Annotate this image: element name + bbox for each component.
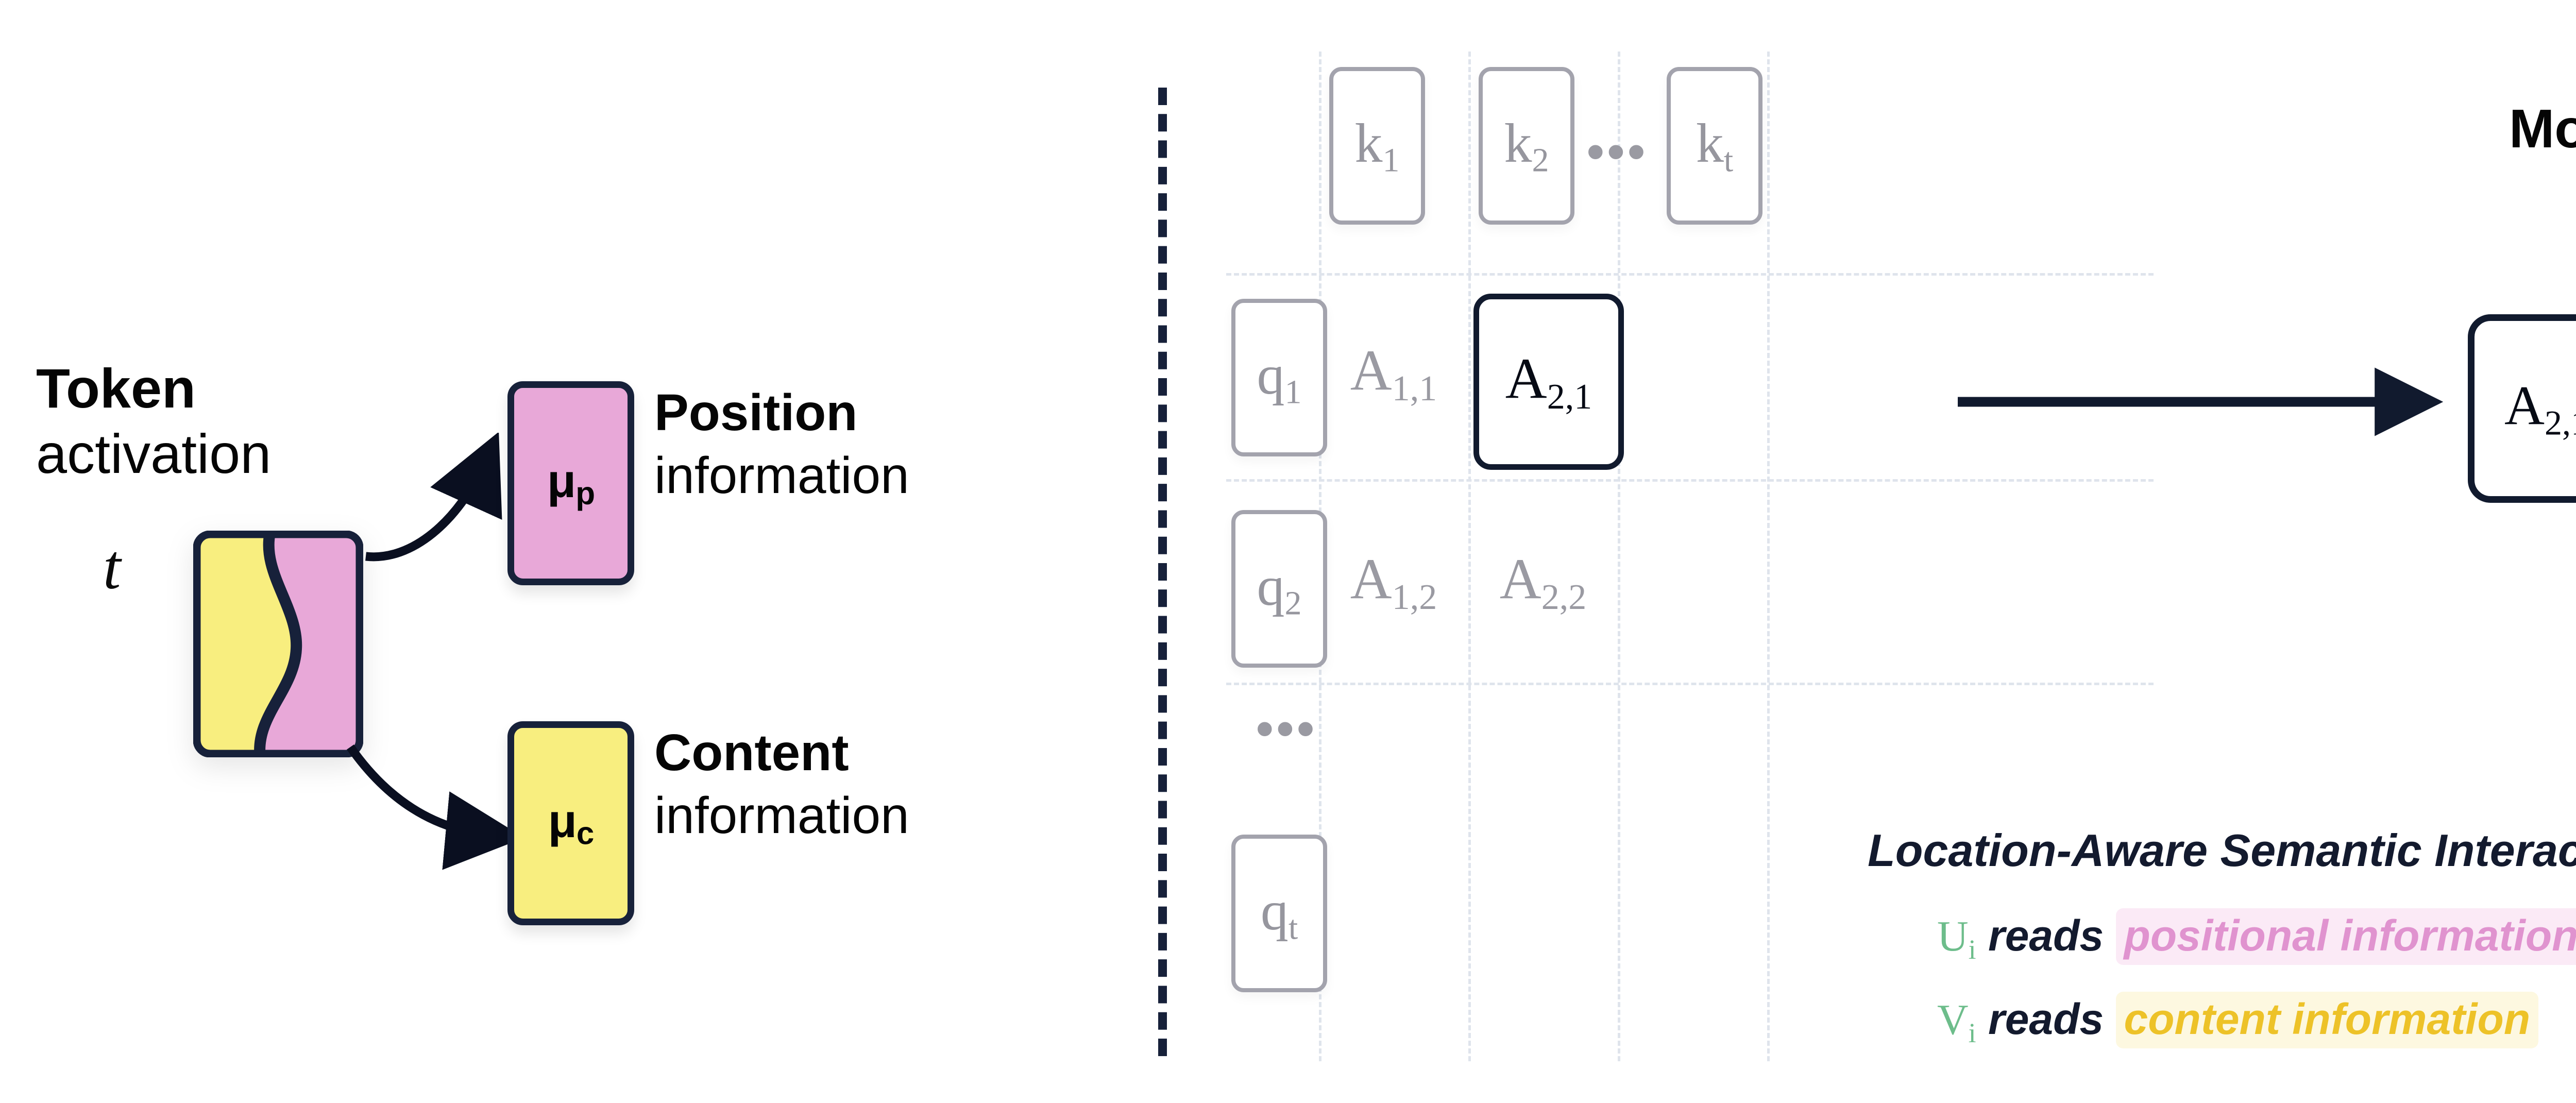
query-column-ellipsis: ••• (1256, 701, 1317, 757)
legend-verb-1: reads (1976, 911, 2116, 960)
eq-a-subscript: 2,1 (2545, 403, 2576, 442)
legend-verb-2: reads (1976, 995, 2116, 1043)
arrow-to-content (340, 737, 526, 871)
query-qt-label: q (1261, 880, 1289, 942)
page-title: Mode and Factor decomposition (2509, 98, 2576, 160)
matrix-cell-a22[interactable]: A2,2 (1468, 515, 1618, 649)
key-k2-subscript: 2 (1532, 141, 1549, 179)
key-k1-label: k (1355, 113, 1383, 174)
key-kt-subscript: t (1724, 141, 1733, 179)
query-q1-subscript: 1 (1285, 373, 1302, 411)
token-activation-tile (193, 531, 363, 757)
position-information-label: Position information (654, 381, 1036, 507)
query-token-q2[interactable]: q2 (1231, 510, 1327, 668)
legend-title-location-aware: Location-Aware Semantic Interaction (1868, 824, 2576, 877)
token-activation-label: Token activation (36, 355, 325, 487)
gridline-horizontal (1226, 479, 2154, 482)
decomposition-equation-label: A2,1 (2504, 374, 2576, 443)
cell-a11-label: A (1350, 338, 1392, 402)
gridline-horizontal (1226, 273, 2154, 276)
query-q2-label: q (1257, 556, 1285, 617)
token-label-regular: activation (36, 421, 325, 486)
content-label-regular: information (654, 784, 1036, 847)
gridline-vertical (1618, 52, 1620, 1061)
mu-c-glyph: μ (548, 795, 577, 847)
query-token-qt[interactable]: qt (1231, 835, 1327, 992)
query-qt-subscript: t (1289, 909, 1298, 946)
content-information-label: Content information (654, 721, 1036, 847)
mu-c-subscript: c (577, 816, 594, 852)
cell-a12-subscript: 1,2 (1392, 578, 1437, 617)
cell-a11-subscript: 1,1 (1392, 369, 1437, 409)
position-label-bold: Position (654, 381, 1036, 444)
cell-a22-subscript: 2,2 (1541, 578, 1587, 617)
content-label-bold: Content (654, 721, 1036, 784)
matrix-cell-a21-selected[interactable]: A2,1 (1473, 294, 1624, 470)
legend-value-2: content information (2116, 992, 2539, 1048)
cell-a21-label: A (1505, 347, 1547, 411)
key-row-ellipsis: ••• (1587, 124, 1648, 180)
key-k2-label: k (1504, 113, 1532, 174)
query-token-q1[interactable]: q1 (1231, 299, 1327, 456)
legend-v-symbol-1: Vi (1937, 996, 1976, 1044)
arrow-to-decomposition (1953, 355, 2447, 438)
arrow-to-position (355, 433, 531, 577)
token-label-bold: Token (36, 355, 325, 421)
legend-row-v-content-left: Vi reads content information (1937, 994, 2538, 1049)
gridline-vertical (1767, 52, 1770, 1061)
eq-a-label: A (2504, 375, 2545, 436)
title-word-mode: Mode (2509, 98, 2576, 159)
query-q2-subscript: 2 (1285, 584, 1302, 622)
position-label-regular: information (654, 444, 1036, 507)
query-q1-label: q (1257, 345, 1285, 406)
token-symbol-t: t (103, 531, 121, 604)
cell-a22-label: A (1500, 547, 1541, 611)
key-token-k1[interactable]: k1 (1329, 67, 1425, 225)
matrix-cell-a11[interactable]: A1,1 (1319, 307, 1468, 440)
cell-a21-subscript: 2,1 (1547, 377, 1592, 417)
legend-u-symbol-1: Ui (1937, 912, 1976, 960)
key-token-kt[interactable]: kt (1667, 67, 1762, 225)
mu-p-subscript: p (575, 476, 595, 512)
decomposition-box: A2,1 = + + (2468, 314, 2576, 503)
mu-c-box: μc (507, 721, 634, 925)
mu-p-box: μp (507, 381, 634, 585)
section-divider (1158, 88, 1167, 1056)
key-kt-label: k (1696, 113, 1724, 174)
matrix-cell-a12[interactable]: A1,2 (1319, 515, 1468, 649)
legend-value-1: positional information (2116, 908, 2576, 965)
mu-p-glyph: μ (547, 455, 575, 507)
cell-a12-label: A (1350, 547, 1392, 611)
key-k1-subscript: 1 (1383, 141, 1400, 179)
gridline-horizontal (1226, 683, 2154, 685)
legend-row-u-positional: Ui reads positional information (1937, 911, 2576, 965)
key-token-k2[interactable]: k2 (1479, 67, 1574, 225)
